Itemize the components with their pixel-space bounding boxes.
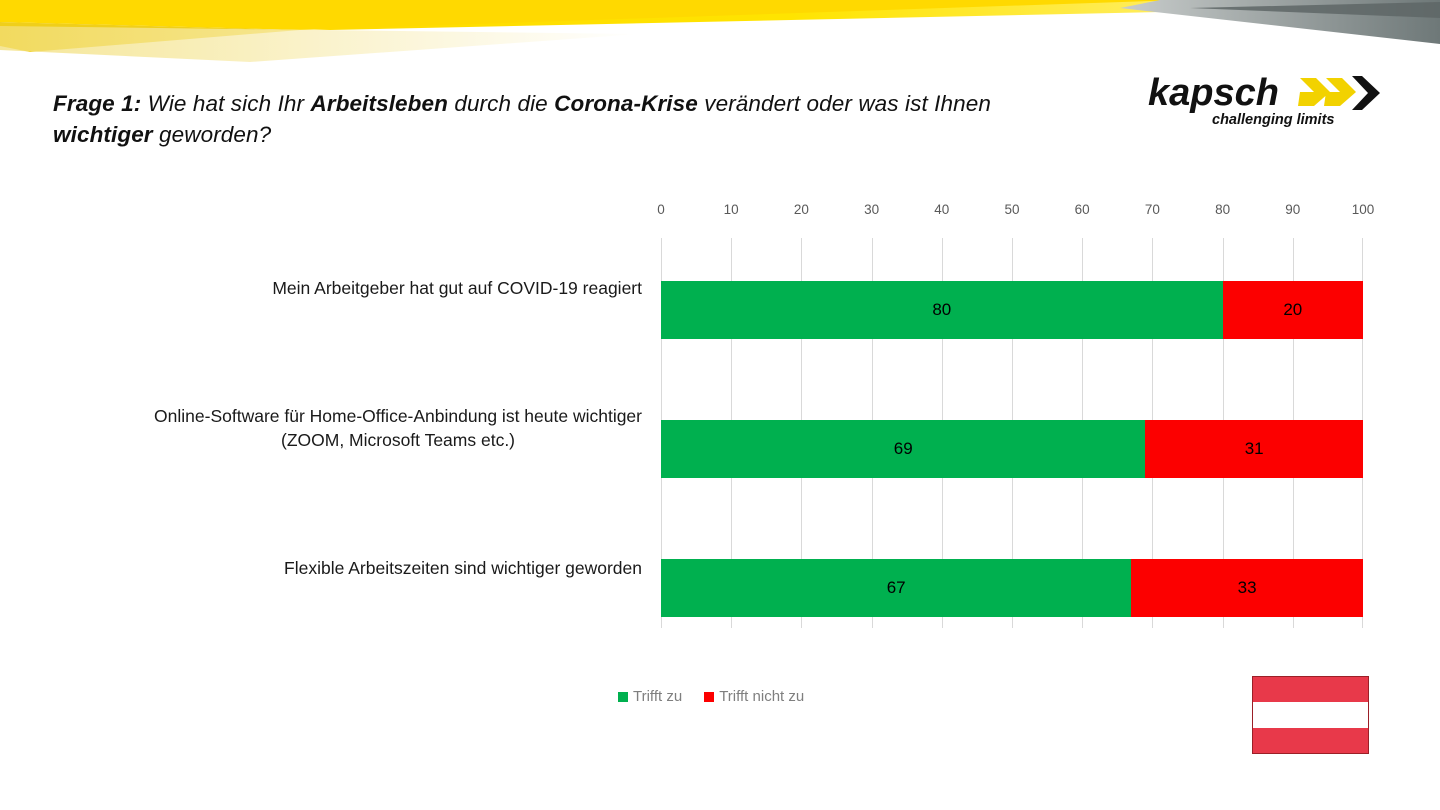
page-title: Frage 1: Wie hat sich Ihr Arbeitsleben d… [53,88,1013,150]
bar-segment-trifft-nicht-zu-2[interactable]: 33 [1131,559,1363,617]
bar-segment-trifft-nicht-zu-0[interactable]: 20 [1223,281,1363,339]
category-label-2: Flexible Arbeitszeiten sind wichtiger ge… [284,556,642,580]
x-tick-90: 90 [1285,202,1300,217]
category-label-1-line-1: (ZOOM, Microsoft Teams etc.) [154,428,642,452]
category-label-0-line-0: Mein Arbeitgeber hat gut auf COVID-19 re… [272,276,642,300]
banner-shapes [0,0,1440,70]
chart-legend: Trifft zu Trifft nicht zu [618,688,804,705]
title-text-1: Wie hat sich Ihr [141,91,310,116]
flag-stripe-top [1253,677,1368,702]
x-tick-40: 40 [934,202,949,217]
title-text-3: verändert oder was ist Ihnen [698,91,991,116]
legend-item-trifft-nicht-zu[interactable]: Trifft nicht zu [704,688,804,705]
category-label-1-line-0: Online-Software für Home-Office-Anbindun… [154,404,642,428]
kapsch-tagline: challenging limits [1212,112,1334,128]
x-tick-100: 100 [1352,202,1375,217]
kapsch-wordmark: kapsch [1148,72,1279,114]
title-strong-corona: Corona-Krise [554,91,698,116]
x-tick-60: 60 [1075,202,1090,217]
bar-segment-trifft-nicht-zu-1[interactable]: 31 [1145,420,1363,478]
kapsch-logo: kapsch challenging limits [1148,72,1386,130]
x-tick-50: 50 [1004,202,1019,217]
kapsch-chevrons-icon [1298,78,1356,106]
x-tick-0: 0 [657,202,665,217]
category-label-2-line-0: Flexible Arbeitszeiten sind wichtiger ge… [284,556,642,580]
header-banner [0,0,1440,70]
stacked-bar-chart: 0 10 20 30 40 50 60 70 80 90 100 Mein Ar… [0,180,1440,680]
x-tick-70: 70 [1145,202,1160,217]
title-strong-frage: Frage 1: [53,91,141,116]
legend-label-trifft-nicht-zu: Trifft nicht zu [719,688,804,705]
bar-row-1: 69 31 [661,420,1363,478]
austria-flag-icon [1252,676,1369,754]
category-label-1: Online-Software für Home-Office-Anbindun… [154,404,642,452]
category-label-0: Mein Arbeitgeber hat gut auf COVID-19 re… [272,276,642,300]
bar-segment-trifft-zu-1[interactable]: 69 [661,420,1145,478]
x-tick-20: 20 [794,202,809,217]
legend-item-trifft-zu[interactable]: Trifft zu [618,688,682,705]
plot-area: 80 20 69 31 67 33 [661,238,1363,628]
legend-swatch-icon-trifft-nicht-zu [704,692,714,702]
kapsch-chevron-outline-icon [1352,76,1380,110]
bar-row-2: 67 33 [661,559,1363,617]
flag-stripe-middle [1253,702,1368,727]
banner-yellow-soft [0,26,640,62]
legend-label-trifft-zu: Trifft zu [633,688,682,705]
bar-segment-trifft-zu-2[interactable]: 67 [661,559,1131,617]
title-text-4: geworden? [153,122,272,147]
bar-row-0: 80 20 [661,281,1363,339]
title-text-2: durch die [448,91,554,116]
x-axis-tick-labels: 0 10 20 30 40 50 60 70 80 90 100 [661,202,1363,224]
kapsch-logo-mark: kapsch challenging limits [1148,72,1386,130]
x-tick-80: 80 [1215,202,1230,217]
x-tick-30: 30 [864,202,879,217]
bar-segment-trifft-zu-0[interactable]: 80 [661,281,1223,339]
legend-swatch-icon-trifft-zu [618,692,628,702]
title-strong-arbeitsleben: Arbeitsleben [310,91,448,116]
x-tick-10: 10 [724,202,739,217]
title-strong-wichtiger: wichtiger [53,122,153,147]
title-line-1: Frage 1: Wie hat sich Ihr Arbeitsleben d… [53,91,991,147]
flag-stripe-bottom [1253,728,1368,753]
